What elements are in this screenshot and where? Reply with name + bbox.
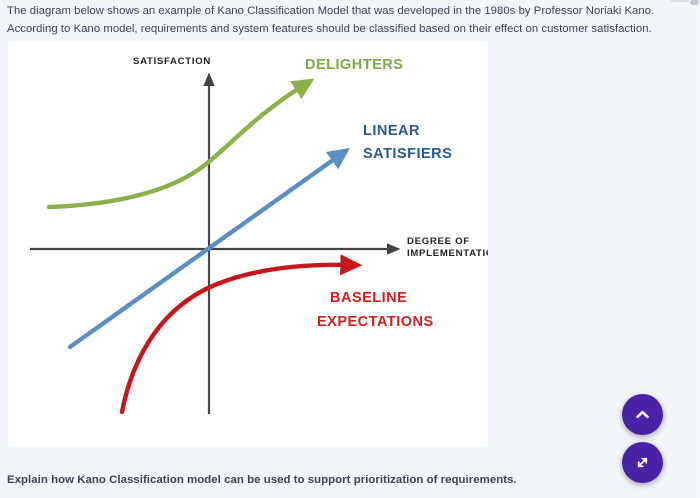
baseline-expectations-label-line1: BASELINE: [330, 290, 407, 306]
question-text: Explain how Kano Classification model ca…: [7, 474, 667, 486]
linear-satisfiers-label-line1: LINEAR: [363, 123, 420, 139]
delighters-label: DELIGHTERS: [305, 57, 403, 73]
intro-line-2: According to Kano model, requirements an…: [7, 21, 679, 39]
x-axis-label-line1: DEGREE OF: [407, 236, 470, 247]
scroll-to-top-button[interactable]: [622, 394, 663, 435]
page-scrollbar-thumb[interactable]: [690, 0, 699, 5]
linear-satisfiers-label-line2: SATISFIERS: [363, 146, 452, 162]
intro-line-1: The diagram below shows an example of Ka…: [7, 3, 679, 21]
expand-diagonal-icon: [635, 455, 650, 470]
top-divider: [671, 0, 691, 2]
y-axis-label: SATISFACTION: [133, 56, 211, 67]
x-axis-label-line2: IMPLEMENTATION: [407, 248, 488, 259]
baseline-expectations-label-line2: EXPECTATIONS: [317, 314, 434, 330]
page-scrollbar-track[interactable]: [689, 0, 700, 498]
intro-paragraph: The diagram below shows an example of Ka…: [7, 3, 679, 38]
kano-diagram-image[interactable]: SATISFACTION DEGREE OF IMPLEMENTATION DE…: [8, 42, 488, 446]
chevron-up-icon: [635, 407, 650, 422]
page-root: The diagram below shows an example of Ka…: [0, 0, 700, 498]
kano-diagram-svg: SATISFACTION DEGREE OF IMPLEMENTATION DE…: [8, 42, 488, 446]
expand-button[interactable]: [622, 442, 663, 483]
